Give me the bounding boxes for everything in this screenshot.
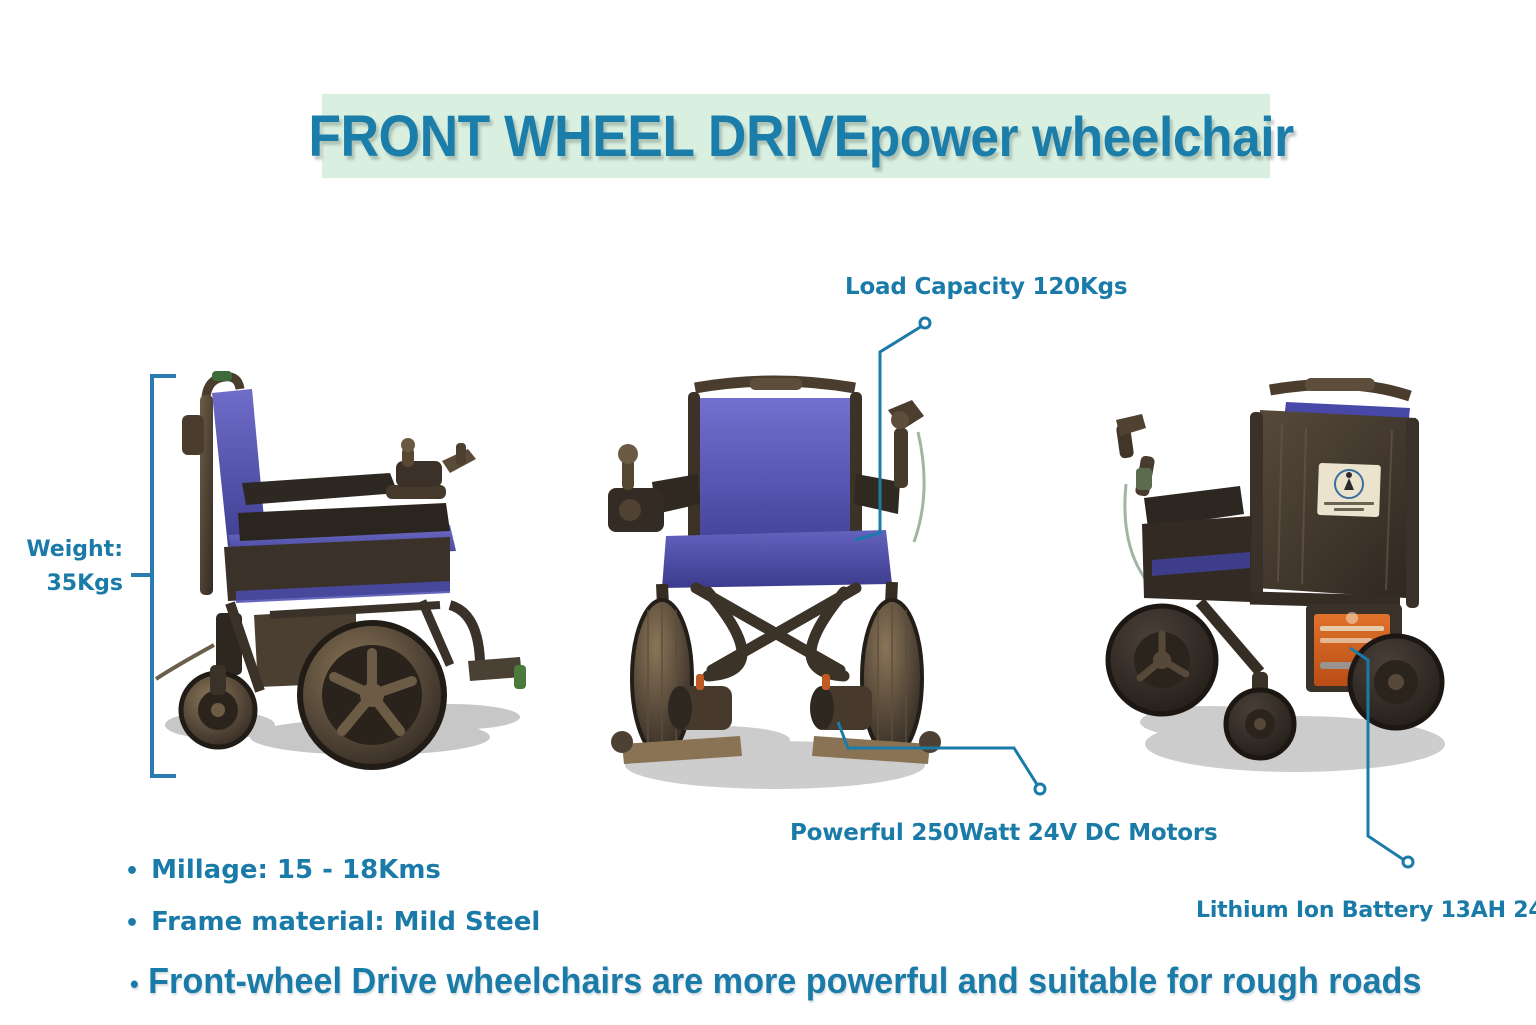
- bullet-marker-icon: •: [125, 861, 139, 883]
- feature-highlight-line: • Front-wheel Drive wheelchairs are more…: [130, 960, 1421, 1002]
- callout-motors: Powerful 250Watt 24V DC Motors: [790, 820, 1218, 846]
- battery-leader-dot: [1403, 857, 1413, 867]
- weight-label-line1: Weight:: [26, 537, 123, 562]
- list-item: • Frame material: Mild Steel: [125, 907, 540, 937]
- spec-bullet-list: • Millage: 15 - 18Kms • Frame material: …: [125, 855, 540, 959]
- front-caster: [181, 665, 255, 747]
- cross-tube: [270, 605, 440, 615]
- list-item-label: Millage: 15 - 18Kms: [151, 855, 441, 885]
- load-capacity-leader-dot: [920, 318, 930, 328]
- rear-bracket: [182, 415, 204, 455]
- joystick-assembly: [396, 438, 476, 487]
- front-view-wheelchair: [600, 370, 960, 802]
- page-title: FRONT WHEEL DRIVE power wheelchair: [373, 96, 1229, 176]
- armrest-support: [386, 485, 446, 499]
- infographic-canvas: FRONT WHEEL DRIVE power wheelchair: [0, 0, 1536, 1025]
- right-control-bracket: [888, 400, 924, 488]
- list-item-label: Frame material: Mild Steel: [151, 907, 540, 937]
- weight-label-line2: 35Kgs: [18, 567, 123, 601]
- callout-load-capacity: Load Capacity 120Kgs: [845, 274, 1127, 300]
- side-view-wheelchair: [150, 365, 550, 795]
- list-item: • Millage: 15 - 18Kms: [125, 855, 540, 885]
- rear-caster-right: [1350, 636, 1442, 728]
- drive-wheel-right: [862, 600, 922, 756]
- push-bar-grip: [750, 378, 802, 390]
- weight-label: Weight: 35Kgs: [18, 533, 123, 601]
- callout-battery: Lithium Ion Battery 13AH 24V: [1196, 898, 1536, 923]
- joystick-controller: [608, 444, 664, 532]
- bullet-marker-icon: •: [130, 969, 139, 1000]
- armrest-pad: [242, 473, 398, 505]
- seat-cushion: [662, 530, 892, 588]
- feature-highlight-label: Front-wheel Drive wheelchairs are more p…: [148, 960, 1421, 1002]
- back-post-left: [688, 392, 700, 552]
- bullet-marker-icon: •: [125, 913, 139, 935]
- controller-mount: [1116, 414, 1156, 497]
- back-post-right: [1406, 418, 1419, 608]
- control-cable: [914, 432, 924, 542]
- footrest: [450, 605, 526, 689]
- front-caster: [1226, 672, 1294, 758]
- back-post-left: [1250, 412, 1263, 602]
- cross-frame: [1250, 598, 1400, 602]
- push-bar-grip: [1305, 378, 1375, 391]
- back-post-right: [850, 392, 862, 552]
- rear-wheel-left: [1108, 606, 1216, 714]
- title-caps-part: FRONT WHEEL DRIVE: [308, 103, 868, 170]
- rear-view-wheelchair: [1100, 372, 1460, 792]
- handle-grip: [212, 371, 232, 381]
- drive-wheel-left: [632, 600, 692, 756]
- backrest-cushion: [696, 398, 854, 538]
- brand-label-patch: [1317, 463, 1381, 517]
- motors-leader-dot: [1035, 784, 1045, 794]
- x-brace: [696, 588, 856, 676]
- drive-wheel: [300, 623, 444, 767]
- title-rest-part: power wheelchair: [869, 104, 1294, 169]
